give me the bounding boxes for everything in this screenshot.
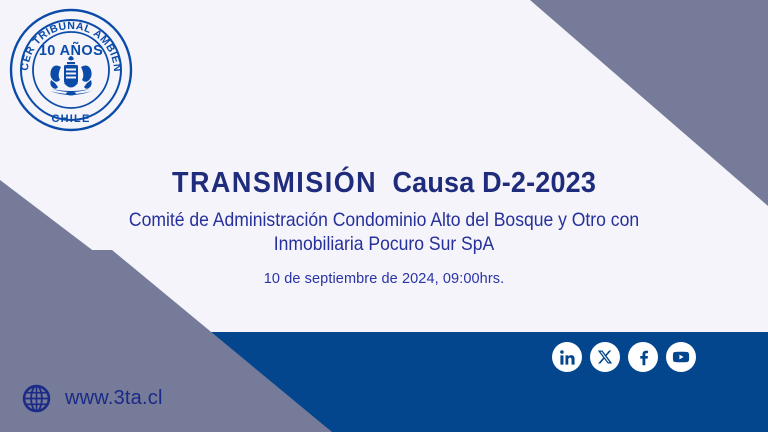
website-url: www.3ta.cl bbox=[65, 387, 163, 410]
case-subtitle: Comité de Administración Condominio Alto… bbox=[38, 209, 729, 257]
globe-icon bbox=[22, 384, 51, 413]
seal-country-text: CHILE bbox=[52, 113, 91, 125]
coat-of-arms-emblem bbox=[50, 56, 92, 96]
linkedin-button[interactable] bbox=[552, 342, 582, 372]
facebook-icon bbox=[635, 349, 652, 366]
seal-ring-text: TERCER TRIBUNAL AMBIENTAL bbox=[6, 5, 123, 73]
tribunal-seal-icon: TERCER TRIBUNAL AMBIENTAL 10 AÑOS CHILE bbox=[6, 5, 136, 135]
linkedin-icon bbox=[559, 349, 576, 366]
title-primary: TRANSMISIÓN bbox=[172, 167, 377, 199]
announcement-text-block: TRANSMISIÓN Causa D-2-2023 Comité de Adm… bbox=[0, 168, 768, 287]
broadcast-datetime: 10 de septiembre de 2024, 09:00hrs. bbox=[0, 271, 768, 287]
x-twitter-button[interactable] bbox=[590, 342, 620, 372]
x-twitter-icon bbox=[597, 349, 613, 365]
broadcast-announcement-slide: TERCER TRIBUNAL AMBIENTAL 10 AÑOS CHILE bbox=[0, 0, 768, 432]
title-secondary: Causa D-2-2023 bbox=[393, 167, 596, 199]
website-footer[interactable]: www.3ta.cl bbox=[22, 384, 163, 413]
tribunal-logo: TERCER TRIBUNAL AMBIENTAL 10 AÑOS CHILE bbox=[6, 5, 136, 135]
page-title: TRANSMISIÓN Causa D-2-2023 bbox=[27, 168, 741, 200]
facebook-button[interactable] bbox=[628, 342, 658, 372]
youtube-button[interactable] bbox=[666, 342, 696, 372]
youtube-icon bbox=[672, 348, 690, 366]
social-links bbox=[552, 342, 696, 372]
